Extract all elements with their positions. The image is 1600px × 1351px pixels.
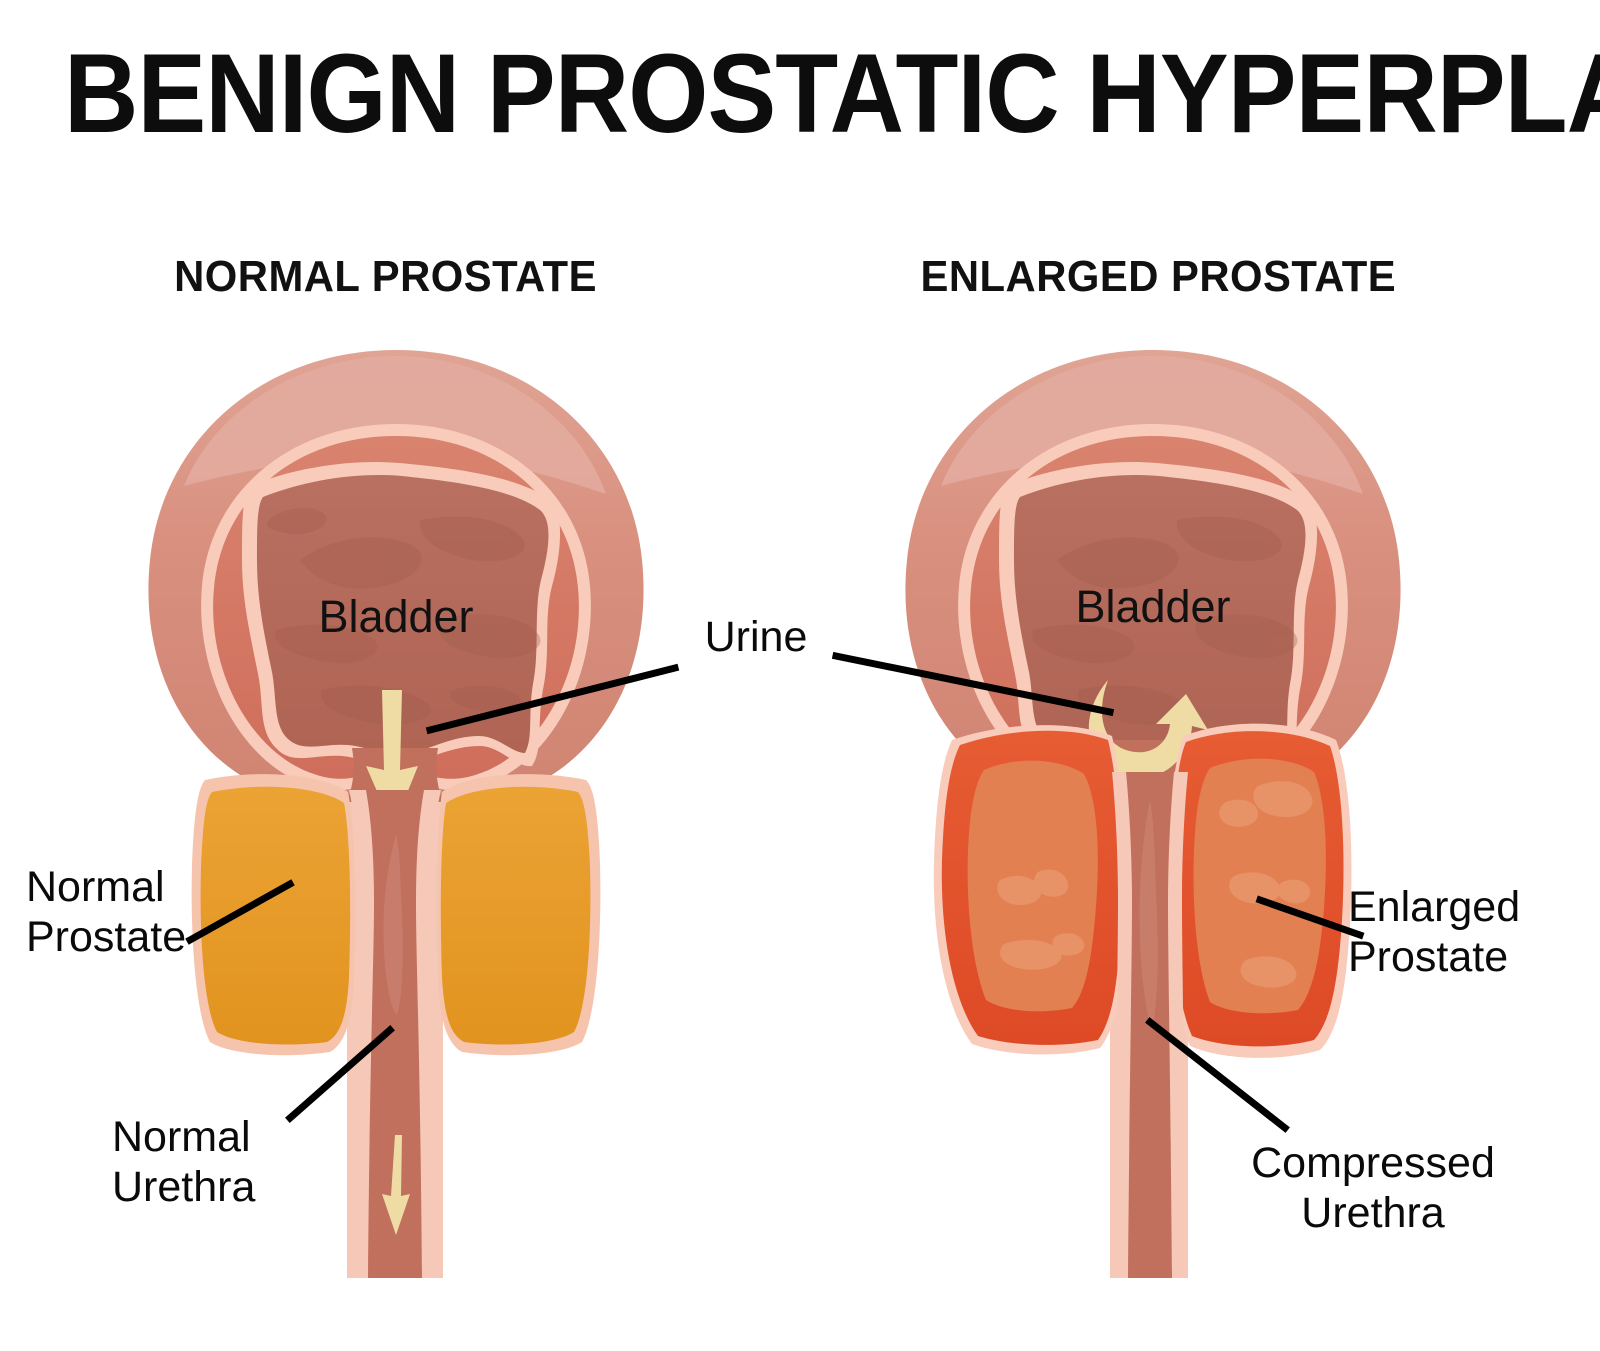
prostate-nodules [968,761,1098,1012]
callout-enlarged-prostate: Enlarged Prostate [1348,882,1598,982]
normal-prostate-right-lobe [441,787,591,1045]
bladder-organ-label: Bladder [318,591,473,642]
callout-urine: Urine [672,612,840,662]
diagram-canvas: BENIGN PROSTATIC HYPERPLASIA NORMAL PROS… [0,0,1600,1351]
callout-normal-prostate: Normal Prostate [26,862,236,962]
callout-compressed-urethra: Compressed Urethra [1215,1138,1531,1238]
bladder-organ-label: Bladder [1075,581,1230,632]
prostate-nodules [1194,759,1326,1014]
callout-normal-urethra: Normal Urethra [112,1112,342,1212]
